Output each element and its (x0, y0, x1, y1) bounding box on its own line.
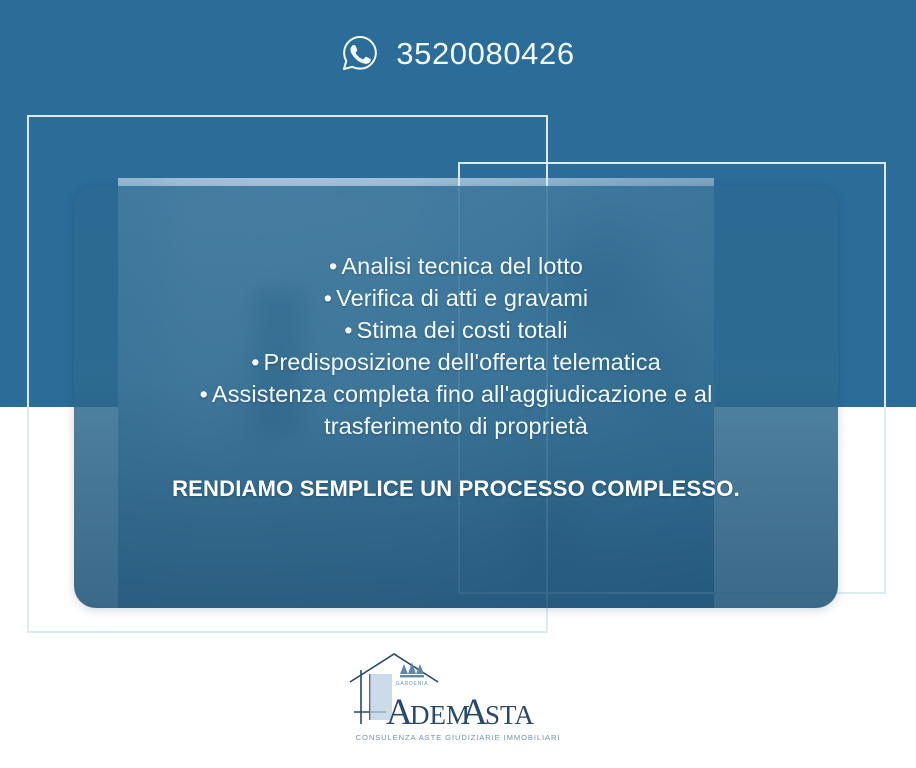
brand-logo: GARDENIA A DEM A STA CONSULENZA ASTE GIU… (328, 648, 588, 752)
whatsapp-icon[interactable] (341, 34, 379, 72)
bullet-text: Stima dei costi totali (357, 317, 568, 343)
list-item: •Verifica di atti e gravami (74, 282, 838, 314)
service-bullet-list: •Analisi tecnica del lotto •Verifica di … (74, 250, 838, 442)
wordmark-a1: A (386, 692, 413, 733)
bullet-dot-icon: • (324, 282, 332, 314)
bullet-dot-icon: • (344, 314, 352, 346)
bullet-dot-icon: • (200, 378, 208, 410)
crown-emblem-icon (400, 662, 424, 677)
logo-wordmark: A DEM A STA (386, 692, 534, 733)
bullet-dot-icon: • (251, 346, 259, 378)
list-item: •Stima dei costi totali (74, 314, 838, 346)
phone-number[interactable]: 3520080426 (396, 38, 574, 69)
bullet-dot-icon: • (329, 250, 337, 282)
bullet-text-continuation: trasferimento di proprietà (74, 410, 838, 442)
poster-canvas: 3520080426 •Analisi tecnica del lotto •V… (0, 0, 916, 768)
emblem-label: GARDENIA (396, 681, 429, 687)
bullet-text: Analisi tecnica del lotto (341, 253, 583, 279)
wordmark-a2: A (461, 692, 488, 733)
wordmark-sta: STA (485, 700, 534, 730)
bullet-text: Predisposizione dell'offerta telematica (264, 349, 661, 375)
card-tagline: RENDIAMO SEMPLICE UN PROCESSO COMPLESSO. (172, 476, 740, 502)
logo-subtitle: CONSULENZA ASTE GIUDIZIARIE IMMOBILIARI (356, 733, 561, 742)
bullet-text: Assistenza completa fino all'aggiudicazi… (212, 381, 712, 407)
list-item: •Assistenza completa fino all'aggiudicaz… (74, 378, 838, 442)
list-item: •Analisi tecnica del lotto (74, 250, 838, 282)
contact-header: 3520080426 (0, 34, 916, 72)
bullet-text: Verifica di atti e gravami (336, 285, 588, 311)
content-card: •Analisi tecnica del lotto •Verifica di … (74, 186, 838, 608)
list-item: •Predisposizione dell'offerta telematica (74, 346, 838, 378)
logo-artwork: GARDENIA A DEM A STA CONSULENZA ASTE GIU… (328, 648, 588, 752)
